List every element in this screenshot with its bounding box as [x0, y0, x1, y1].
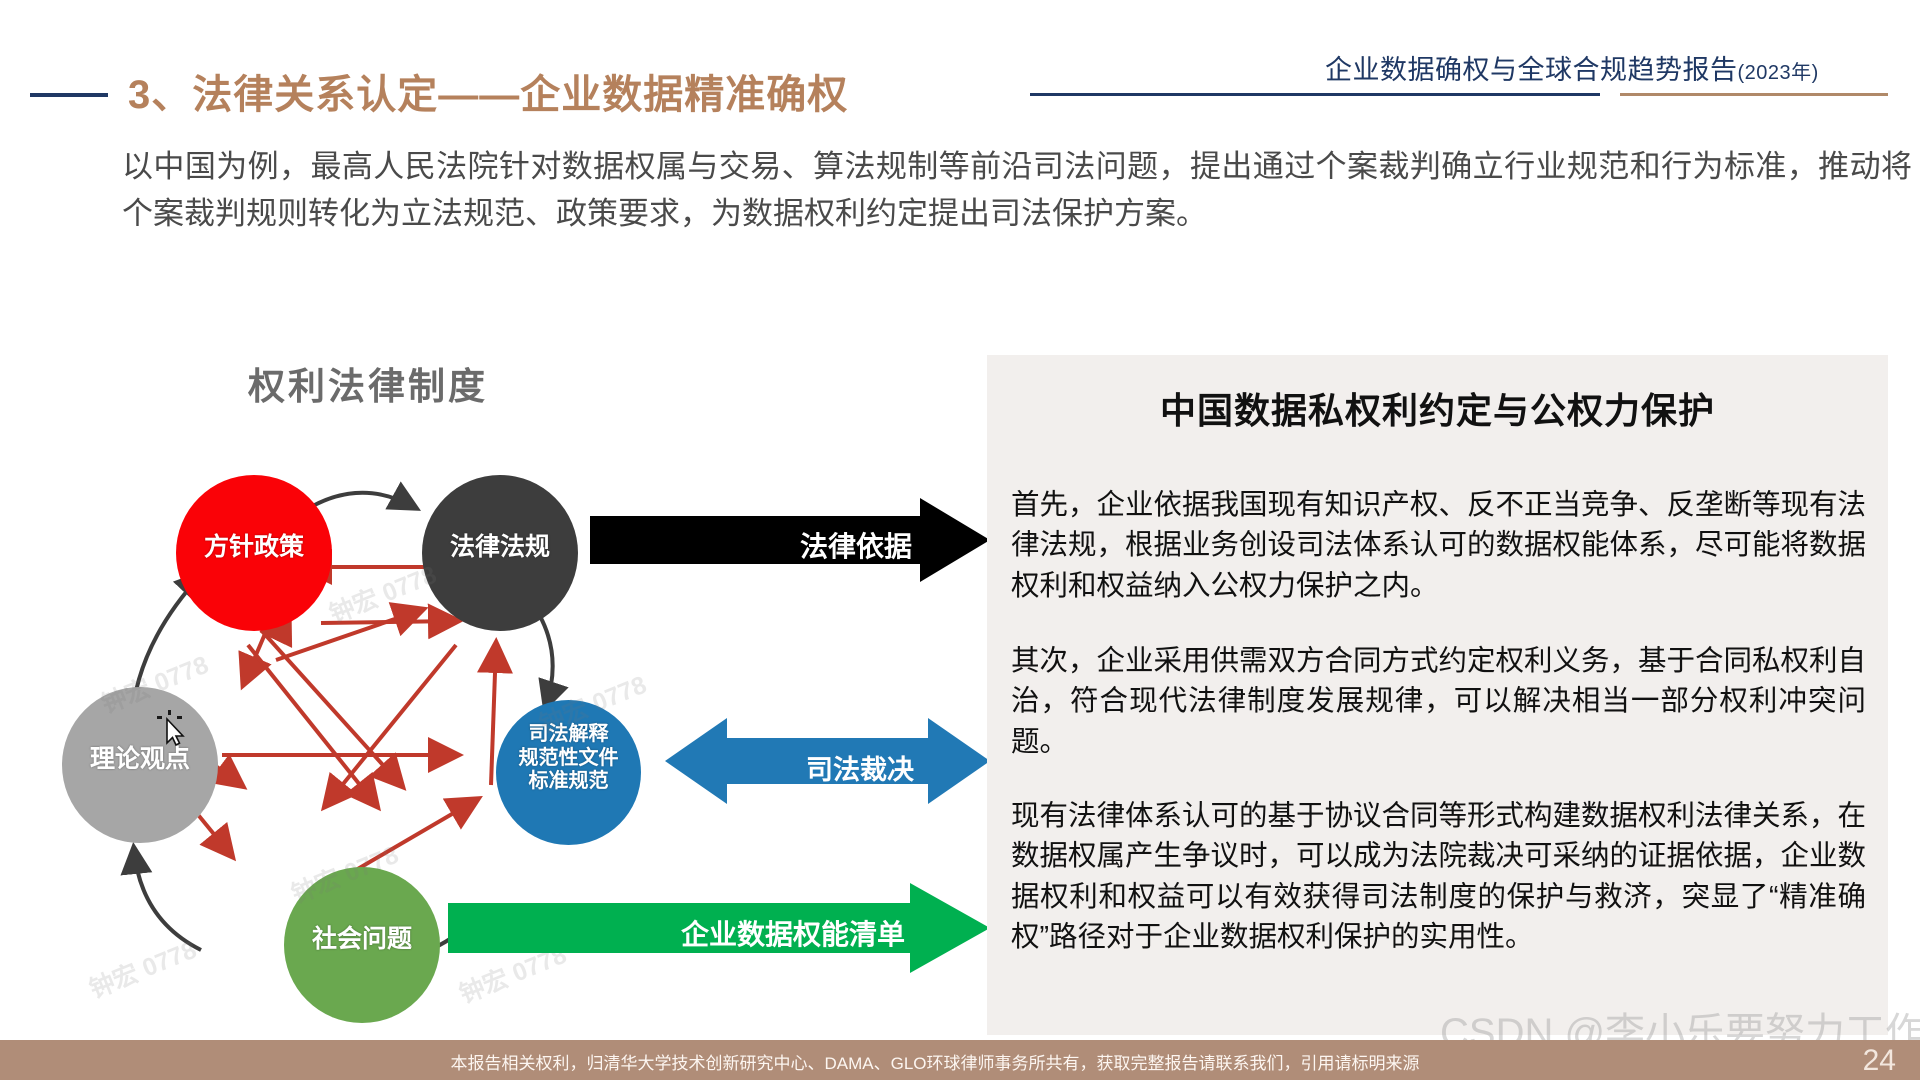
page-number: 24	[1863, 1044, 1896, 1078]
block-arrow-legal-basis-label: 法律依据	[800, 525, 912, 565]
node-judicial-line-3: 标准规范	[496, 770, 641, 794]
slide-root: 企业数据确权与全球合规趋势报告(2023年) 3、法律关系认定——企业数据精准确…	[0, 0, 1920, 1080]
panel-paragraph: 首先，企业依据我国现有知识产权、反不正当竞争、反垄断等现有法律法规，根据业务创设…	[1011, 485, 1866, 606]
right-panel-heading: 中国数据私权利约定与公权力保护	[987, 382, 1888, 434]
report-name-header: 企业数据确权与全球合规趋势报告(2023年)	[1325, 48, 1819, 87]
node-judicial-label: 司法解释 规范性文件 标准规范	[496, 723, 641, 794]
page-title: 3、法律关系认定——企业数据精准确权	[128, 62, 848, 120]
report-year-text: (2023年)	[1738, 62, 1819, 84]
block-arrow-adjudication-label: 司法裁决	[806, 748, 914, 787]
header-rule-left	[30, 93, 108, 97]
intro-paragraph: 以中国为例，最高人民法院针对数据权属与交易、算法规制等前沿司法问题，提出通过个案…	[122, 143, 1912, 237]
panel-paragraph: 现有法律体系认可的基于协议合同等形式构建数据权利法律关系，在数据权属产生争议时，…	[1011, 796, 1866, 958]
node-law-label: 法律法规	[422, 533, 578, 563]
node-social-label: 社会问题	[284, 925, 440, 955]
panel-paragraph: 其次，企业采用供需双方合同方式约定权利义务，基于合同私权利自治，符合现代法律制度…	[1011, 641, 1866, 762]
block-arrow-legal-basis[interactable]	[590, 498, 990, 582]
header-rule-right	[1620, 93, 1888, 96]
report-name-text: 企业数据确权与全球合规趋势报告	[1325, 55, 1738, 85]
block-arrow-rights-list-label: 企业数据权能清单	[681, 913, 905, 953]
diagram-title: 权利法律制度	[248, 356, 488, 410]
node-theory-label: 理论观点	[62, 745, 218, 775]
node-judicial-line-1: 司法解释	[496, 723, 641, 747]
node-policy-label: 方针政策	[176, 533, 332, 563]
header-rule-middle	[1030, 93, 1600, 96]
node-judicial-line-2: 规范性文件	[496, 747, 641, 771]
footer-text: 本报告相关权利，归清华大学技术创新研究中心、DAMA、GLO环球律师事务所共有，…	[0, 1049, 1870, 1074]
